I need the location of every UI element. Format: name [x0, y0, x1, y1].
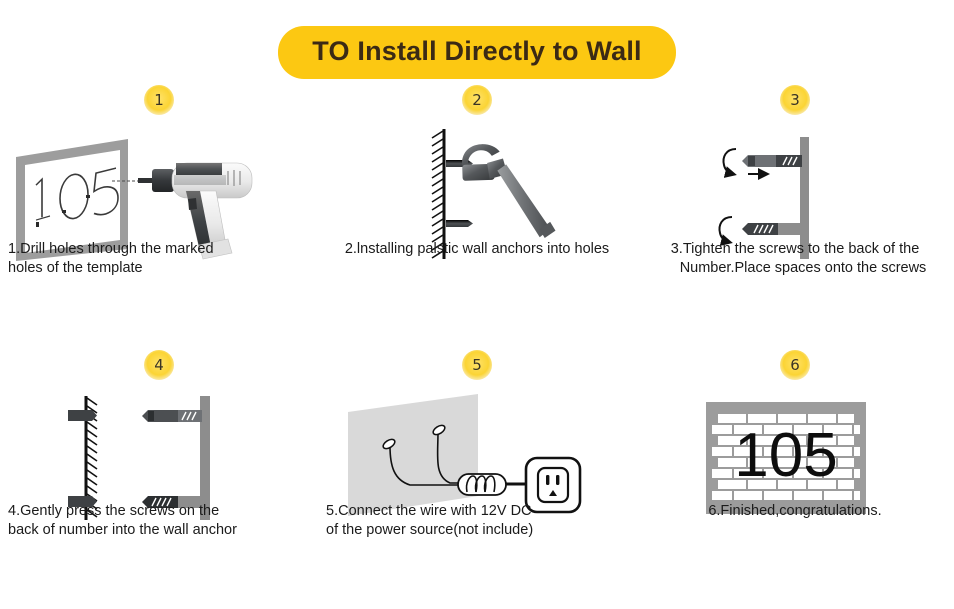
step-4: 4	[0, 350, 318, 605]
step-3-caption-line1: 3.Tighten the screws to the back of the	[671, 241, 920, 257]
brick-wall-panel: 105	[706, 402, 866, 514]
step-1: 1	[0, 85, 318, 350]
outlet-slot-left	[546, 475, 549, 485]
step-badge-4: 4	[144, 350, 174, 380]
step-6-caption: 6.Finished,congratulations.	[636, 502, 954, 521]
step-1-caption: 1.Drill holes through the marked holes o…	[0, 240, 318, 278]
step-4-caption-line2: back of number into the wall anchor	[8, 521, 310, 540]
step-3: 3	[636, 85, 954, 350]
step-2-caption: 2.lnstalling palstic wall anchors into h…	[318, 240, 636, 259]
mounted-house-number: 105	[734, 421, 837, 490]
outlet-slot-right	[556, 475, 559, 485]
step-1-badge-row: 1	[0, 85, 318, 119]
step-badge-6: 6	[780, 350, 810, 380]
step-3-caption: 3.Tighten the screws to the back of the …	[636, 240, 954, 278]
page-title: TO Install Directly to Wall	[278, 26, 675, 79]
step-6: 6	[636, 350, 954, 605]
step-2-badge-row: 2	[318, 85, 636, 119]
step-5-badge-row: 5	[318, 350, 636, 384]
step-3-caption-line2: Number.Place spaces onto the screws	[644, 259, 946, 278]
rotation-arrow-lower	[720, 217, 733, 242]
step-6-badge-row: 6	[636, 350, 954, 384]
step-2-caption-line1: 2.lnstalling palstic wall anchors into h…	[345, 241, 609, 257]
step-badge-5: 5	[462, 350, 492, 380]
step-4-caption-line1: 4.Gently press the screws on the	[8, 503, 219, 519]
step-2: 2	[318, 85, 636, 350]
screw-lower	[742, 223, 802, 235]
screw-upper	[742, 155, 802, 167]
installation-steps-grid: 1	[0, 85, 954, 605]
step-1-caption-line2: holes of the template	[8, 259, 310, 278]
step-4-caption: 4.Gently press the screws on the back of…	[0, 502, 318, 540]
transformer	[458, 474, 506, 495]
wall-panel	[348, 394, 478, 516]
step-4-badge-row: 4	[0, 350, 318, 384]
step-5-caption-line1: 5.Connect the wire with 12V DC	[326, 503, 532, 519]
step-5-caption-line2: of the power source(not include)	[326, 521, 628, 540]
step-3-badge-row: 3	[636, 85, 954, 119]
step-6-caption-line1: 6.Finished,congratulations.	[708, 503, 881, 519]
step-badge-2: 2	[462, 85, 492, 115]
step-5-caption: 5.Connect the wire with 12V DC of the po…	[318, 502, 636, 540]
wall-anchor-upper	[68, 410, 97, 421]
step-5: 5	[318, 350, 636, 605]
wall-hatching	[432, 131, 443, 258]
hammer-tool	[461, 142, 555, 241]
step-badge-1: 1	[144, 85, 174, 115]
rotation-arrow-upper	[724, 149, 737, 174]
step-badge-3: 3	[780, 85, 810, 115]
screw-upper	[142, 410, 202, 422]
page-title-banner: TO Install Directly to Wall	[0, 26, 954, 79]
step-1-caption-line1: 1.Drill holes through the marked	[8, 241, 214, 257]
wall-anchor-lower	[446, 220, 473, 227]
